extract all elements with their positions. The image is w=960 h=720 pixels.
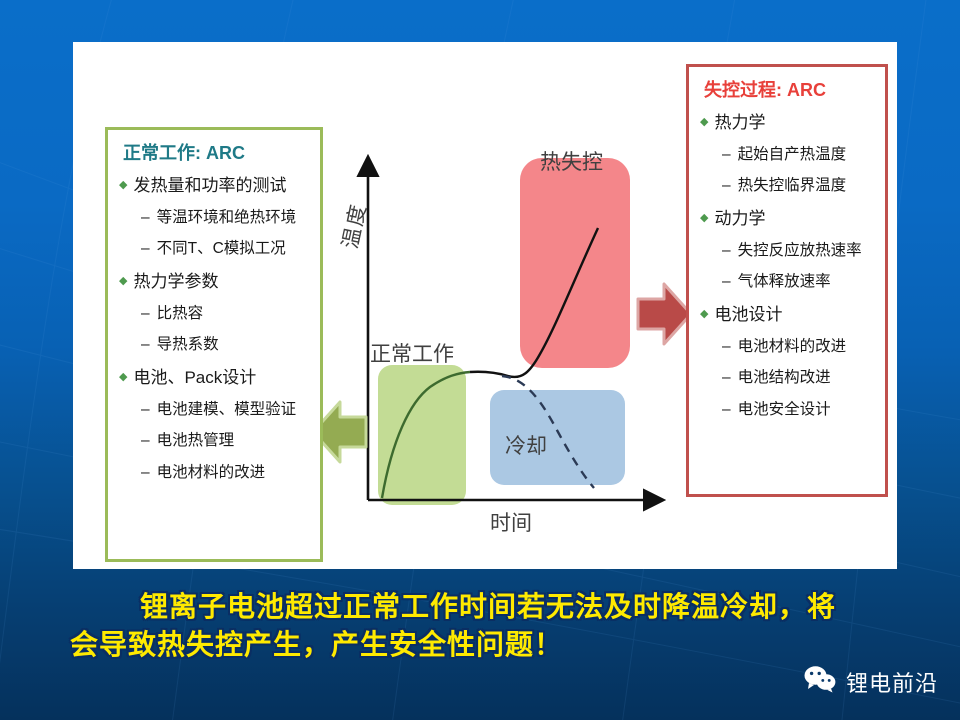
dash-bullet-icon: – xyxy=(722,241,731,260)
list-item: – 不同T、C模拟工况 xyxy=(119,239,311,258)
list-item: – 气体释放速率 xyxy=(700,272,877,291)
slide-caption: 锂离子电池超过正常工作时间若无法及时降温冷却，将 会导致热失控产生，产生安全性问… xyxy=(58,588,918,664)
arrow-to-right-panel-icon xyxy=(632,277,694,351)
list-item: – 热失控临界温度 xyxy=(700,176,877,195)
caption-line-1: 锂离子电池超过正常工作时间若无法及时降温冷却，将 xyxy=(58,588,918,626)
list-item-label: 电池设计 xyxy=(714,304,782,325)
list-item: – 电池安全设计 xyxy=(700,400,877,419)
thermal-runaway-panel-title: 失控过程: ARC xyxy=(704,80,877,102)
list-item-label: 等温环境和绝热环境 xyxy=(157,208,297,227)
list-item-label: 电池材料的改进 xyxy=(157,463,266,482)
dash-bullet-icon: – xyxy=(722,368,731,387)
dash-bullet-icon: – xyxy=(722,337,731,356)
dash-bullet-icon: – xyxy=(141,304,150,323)
watermark: 锂电前沿 xyxy=(803,665,938,698)
list-item-label: 气体释放速率 xyxy=(738,272,831,291)
diamond-bullet-icon: ◆ xyxy=(119,180,127,191)
diamond-bullet-icon: ◆ xyxy=(700,309,708,320)
dash-bullet-icon: – xyxy=(141,335,150,354)
list-item: – 失控反应放热速率 xyxy=(700,241,877,260)
list-item-label: 电池结构改进 xyxy=(738,368,831,387)
list-item: – 电池结构改进 xyxy=(700,368,877,387)
list-item-label: 发热量和功率的测试 xyxy=(133,175,286,196)
dash-bullet-icon: – xyxy=(141,400,150,419)
zone-thermal-runaway xyxy=(520,158,630,368)
list-item: ◆ 发热量和功率的测试 xyxy=(119,175,311,196)
dash-bullet-icon: – xyxy=(722,400,731,419)
diamond-bullet-icon: ◆ xyxy=(700,117,708,128)
list-item-label: 热失控临界温度 xyxy=(738,176,847,195)
list-item-label: 热力学 xyxy=(714,112,765,133)
list-item-label: 动力学 xyxy=(714,208,765,229)
list-item: – 起始自产热温度 xyxy=(700,145,877,164)
list-item: – 电池建模、模型验证 xyxy=(119,400,311,419)
list-item-label: 热力学参数 xyxy=(133,271,218,292)
list-item: – 比热容 xyxy=(119,304,311,323)
dash-bullet-icon: – xyxy=(141,431,150,450)
diamond-bullet-icon: ◆ xyxy=(700,213,708,224)
watermark-label: 锂电前沿 xyxy=(846,666,938,698)
list-item: ◆ 动力学 xyxy=(700,208,877,229)
label-normal-operation: 正常工作 xyxy=(370,338,454,368)
normal-operation-panel-title: 正常工作: ARC xyxy=(123,143,311,165)
list-item-label: 起始自产热温度 xyxy=(738,145,847,164)
list-item-label: 电池材料的改进 xyxy=(738,337,847,356)
list-item-label: 电池热管理 xyxy=(157,431,235,450)
dash-bullet-icon: – xyxy=(722,176,731,195)
label-thermal-runaway: 热失控 xyxy=(540,146,603,176)
thermal-runaway-panel: 失控过程: ARC ◆ 热力学 – 起始自产热温度 – 热失控临界温度 xyxy=(686,64,888,497)
list-item: – 电池材料的改进 xyxy=(119,463,311,482)
wechat-icon xyxy=(803,665,837,698)
list-item-label: 电池建模、模型验证 xyxy=(157,400,297,419)
list-item-label: 导热系数 xyxy=(157,335,219,354)
list-item: – 导热系数 xyxy=(119,335,311,354)
x-axis-label: 时间 xyxy=(490,507,532,537)
dash-bullet-icon: – xyxy=(722,145,731,164)
dash-bullet-icon: – xyxy=(141,208,150,227)
list-item: – 电池材料的改进 xyxy=(700,337,877,356)
list-item-label: 比热容 xyxy=(157,304,204,323)
list-item-label: 失控反应放热速率 xyxy=(738,241,862,260)
list-item-label: 电池、Pack设计 xyxy=(133,367,256,388)
list-item: ◆ 电池、Pack设计 xyxy=(119,367,311,388)
list-item-label: 电池安全设计 xyxy=(738,400,831,419)
list-item: – 等温环境和绝热环境 xyxy=(119,208,311,227)
list-item: ◆ 电池设计 xyxy=(700,304,877,325)
zone-normal-operation xyxy=(378,365,466,505)
dash-bullet-icon: – xyxy=(722,272,731,291)
diamond-bullet-icon: ◆ xyxy=(119,276,127,287)
list-item-label: 不同T、C模拟工况 xyxy=(157,239,286,258)
caption-line-2: 会导致热失控产生，产生安全性问题！ xyxy=(58,626,918,664)
normal-operation-panel: 正常工作: ARC ◆ 发热量和功率的测试 – 等温环境和绝热环境 – 不同T、… xyxy=(105,127,323,562)
list-item: ◆ 热力学参数 xyxy=(119,271,311,292)
list-item: ◆ 热力学 xyxy=(700,112,877,133)
slide-canvas: 温度 时间 正常工作 热失控 冷却 正常工作: ARC ◆ 发热量和功率的测试 xyxy=(0,0,960,720)
dash-bullet-icon: – xyxy=(141,463,150,482)
label-cooling: 冷却 xyxy=(505,430,547,460)
list-item: – 电池热管理 xyxy=(119,431,311,450)
diamond-bullet-icon: ◆ xyxy=(119,372,127,383)
dash-bullet-icon: – xyxy=(141,239,150,258)
content-panel: 温度 时间 正常工作 热失控 冷却 正常工作: ARC ◆ 发热量和功率的测试 xyxy=(73,42,897,569)
